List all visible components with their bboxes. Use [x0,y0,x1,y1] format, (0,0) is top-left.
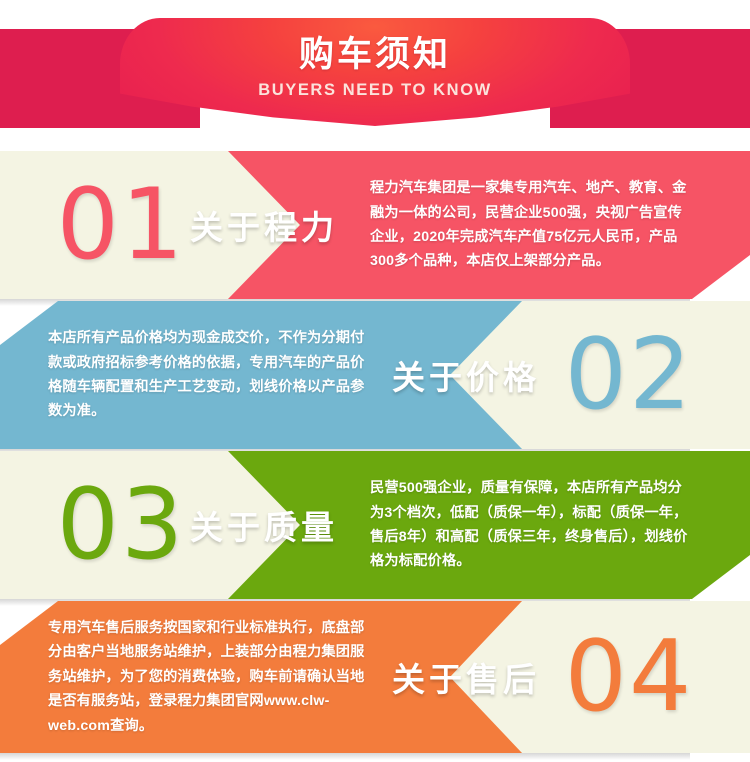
section-number-03: 03 [57,476,186,574]
section-row-02: 02 关于价格 本店所有产品价格均为现金成交价，不作为分期付款或政府招标参考价格… [0,301,750,449]
page-title-en: BUYERS NEED TO KNOW [258,81,492,100]
section-shadow-04 [0,753,690,760]
section-number-04: 04 [565,628,694,726]
section-heading-01: 关于程力 [190,151,338,299]
section-heading-04: 关于售后 [392,601,540,753]
section-heading-02: 关于价格 [392,301,540,449]
section-body-04: 专用汽车售后服务按国家和行业标准执行，底盘部分由客户当地服务站维护，上装部分由程… [48,601,378,753]
buyers-notice-infographic: 购车须知 BUYERS NEED TO KNOW 01 关于程力 程力汽车集团是… [0,0,750,762]
section-body-02: 本店所有产品价格均为现金成交价，不作为分期付款或政府招标参考价格的依据，专用汽车… [48,301,378,449]
section-number-02: 02 [565,326,694,424]
section-row-04: 04 关于售后 专用汽车售后服务按国家和行业标准执行，底盘部分由客户当地服务站维… [0,601,750,753]
section-heading-03: 关于质量 [190,451,338,599]
page-title-cn: 购车须知 [299,34,451,75]
section-body-01: 程力汽车集团是一家集专用汽车、地产、教育、金融为一体的公司，民营企业500强，央… [370,151,690,299]
section-row-01: 01 关于程力 程力汽车集团是一家集专用汽车、地产、教育、金融为一体的公司，民营… [0,151,750,299]
section-number-01: 01 [57,176,186,274]
section-row-03: 03 关于质量 民营500强企业，质量有保障，本店所有产品均分为3个档次，低配（… [0,451,750,599]
section-body-03: 民营500强企业，质量有保障，本店所有产品均分为3个档次，低配（质保一年），标配… [370,451,690,599]
header-ribbon: 购车须知 BUYERS NEED TO KNOW [0,0,750,140]
